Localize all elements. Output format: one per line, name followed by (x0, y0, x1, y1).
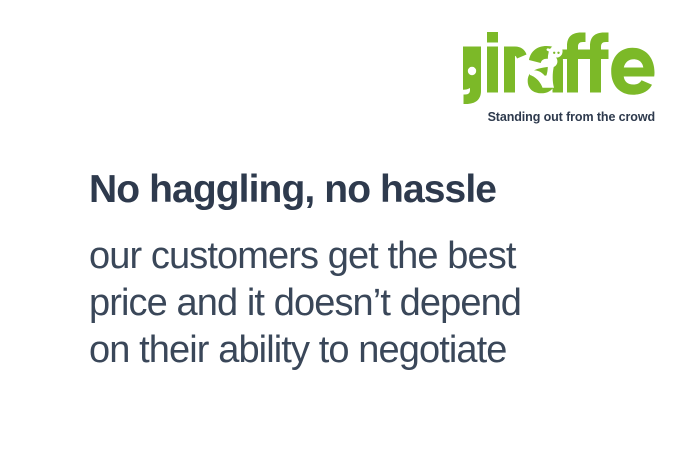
subcopy-line-1: our customers get the best (89, 233, 649, 280)
subcopy-line-3: on their ability to negotiate (89, 327, 649, 374)
subcopy-line-2: price and it doesn’t depend (89, 280, 649, 327)
brand-logo[interactable]: Standing out from the crowd (463, 26, 655, 124)
slide-canvas: Standing out from the crowd No haggling,… (0, 0, 700, 467)
headline: No haggling, no hassle (89, 168, 649, 212)
subcopy: our customers get the best price and it … (89, 212, 649, 374)
message-block: No haggling, no hassle our customers get… (89, 168, 649, 374)
giraffe-wordmark-icon (463, 26, 655, 104)
brand-tagline: Standing out from the crowd (463, 111, 655, 124)
